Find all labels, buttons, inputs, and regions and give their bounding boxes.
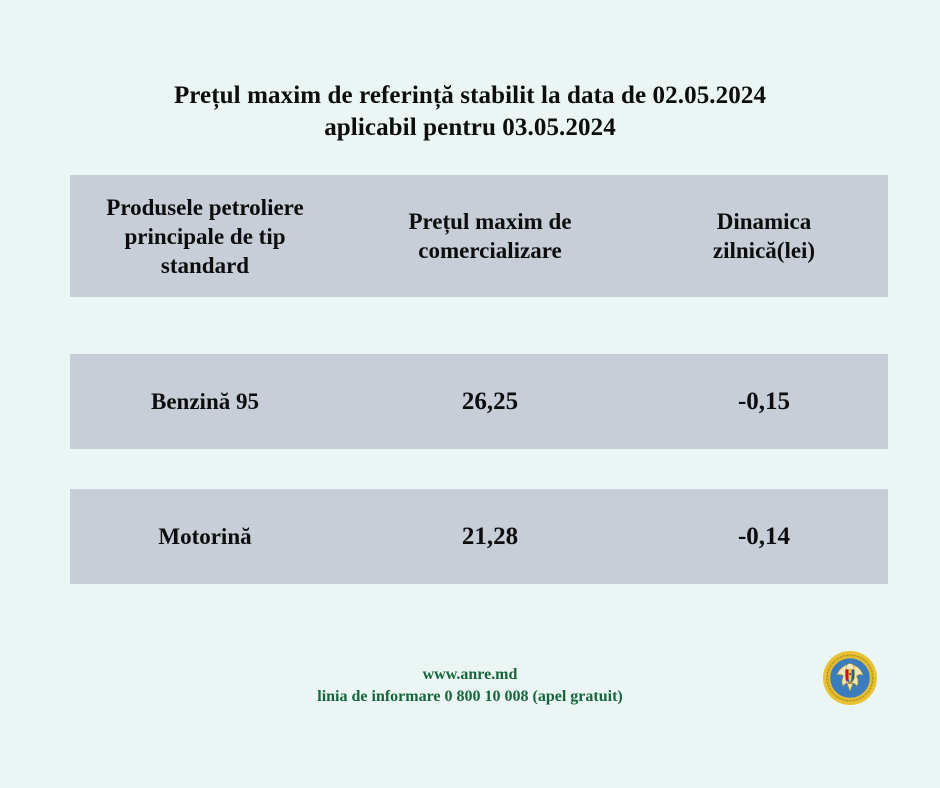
cell-product-benzina: Benzină 95	[70, 387, 340, 417]
footer-info-line: linia de informare 0 800 10 008 (apel gr…	[0, 686, 940, 708]
cell-dynamic-motorina: -0,14	[640, 522, 888, 552]
table-row: Benzină 95 26,25 -0,15	[70, 354, 888, 449]
column-header-dynamic-line-2: zilnică(lei)	[713, 238, 815, 263]
column-header-price-line-1: Prețul maxim de	[408, 209, 571, 234]
column-header-product-line-3: standard	[161, 253, 249, 278]
fuel-price-table: Produsele petroliere principale de tip s…	[70, 175, 888, 584]
table-row: Motorină 21,28 -0,14	[70, 489, 888, 584]
column-header-dynamic: Dinamica zilnică(lei)	[640, 207, 888, 265]
column-header-product-line-1: Produsele petroliere	[106, 195, 303, 220]
page-title-line-1: Prețul maxim de referință stabilit la da…	[0, 80, 940, 112]
table-header-row: Produsele petroliere principale de tip s…	[70, 175, 888, 297]
table-row-spacer	[70, 297, 888, 354]
cell-product-motorina: Motorină	[70, 522, 340, 552]
cell-price-benzina: 26,25	[340, 387, 640, 417]
column-header-product-line-2: principale de tip	[124, 224, 285, 249]
footer-website[interactable]: www.anre.md	[0, 664, 940, 686]
column-header-price: Prețul maxim de comercializare	[340, 207, 640, 265]
footer: www.anre.md linia de informare 0 800 10 …	[0, 664, 940, 708]
cell-dynamic-benzina: -0,15	[640, 387, 888, 417]
column-header-product: Produsele petroliere principale de tip s…	[70, 193, 340, 280]
anre-emblem-logo	[822, 650, 878, 706]
infographic-page: Prețul maxim de referință stabilit la da…	[0, 0, 940, 788]
page-title: Prețul maxim de referință stabilit la da…	[0, 80, 940, 144]
column-header-dynamic-line-1: Dinamica	[717, 209, 812, 234]
table-row-spacer	[70, 449, 888, 489]
page-title-line-2: aplicabil pentru 03.05.2024	[0, 112, 940, 144]
column-header-price-line-2: comercializare	[418, 238, 561, 263]
cell-price-motorina: 21,28	[340, 522, 640, 552]
